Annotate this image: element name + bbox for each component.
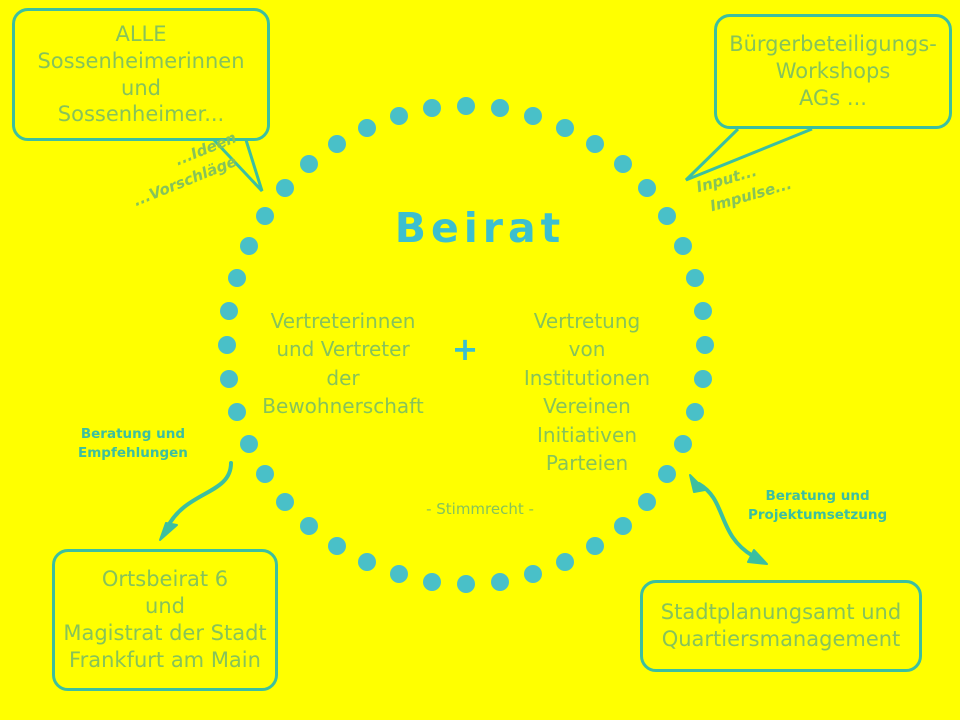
circle-dot	[328, 135, 346, 153]
circle-dot	[390, 107, 408, 125]
label-beratung-projektumsetzung: Beratung und Projektumsetzung	[748, 487, 887, 525]
bubble-citizens-line: Sossenheimerinnen	[37, 48, 244, 75]
bubble-citizens-line: ALLE	[115, 21, 166, 48]
circle-dot	[300, 517, 318, 535]
label-beratung-empfehlungen-line: Empfehlungen	[78, 444, 188, 463]
circle-dot	[276, 179, 294, 197]
circle-dot	[300, 155, 318, 173]
bubble-citizens-line: Sossenheimer...	[58, 101, 224, 128]
plus-icon: +	[445, 333, 485, 365]
center-right-line: Vereinen	[502, 392, 672, 420]
circle-dot	[586, 537, 604, 555]
circle-dot	[524, 107, 542, 125]
bubble-ortsbeirat-line: und	[145, 593, 185, 620]
circle-dot	[218, 336, 236, 354]
circle-dot	[228, 269, 246, 287]
center-left-line: der	[258, 364, 428, 392]
circle-dot	[423, 99, 441, 117]
center-right-line: Vertretung	[502, 307, 672, 335]
bubble-ortsbeirat-line: Magistrat der Stadt	[63, 620, 266, 647]
diagram-canvas: Beirat Vertreterinnen und Vertreter der …	[0, 0, 960, 720]
arrowhead-up-projektumsetzung	[690, 475, 705, 492]
circle-dot	[491, 573, 509, 591]
arrowhead-beratung-empfehlungen	[160, 523, 177, 540]
center-right-line: Parteien	[502, 449, 672, 477]
bubble-workshops-line: Bürgerbeteiligungs-	[729, 31, 937, 58]
circle-dot	[358, 119, 376, 137]
center-left-line: und Vertreter	[258, 335, 428, 363]
bubble-citizens[interactable]: ALLE Sossenheimerinnen und Sossenheimer.…	[12, 8, 270, 141]
circle-dot	[358, 553, 376, 571]
circle-dot	[390, 565, 408, 583]
circle-dot	[240, 435, 258, 453]
label-beratung-projektumsetzung-line: Projektumsetzung	[748, 506, 887, 525]
circle-dot	[228, 403, 246, 421]
label-beratung-empfehlungen-line: Beratung und	[78, 425, 188, 444]
arrow-beratung-projektumsetzung	[699, 484, 753, 556]
circle-dot	[556, 119, 574, 137]
bubble-stadtplanung[interactable]: Stadtplanungsamt und Quartiersmanagement	[640, 580, 922, 672]
circle-dot	[457, 97, 475, 115]
circle-dot	[491, 99, 509, 117]
center-left-line: Vertreterinnen	[258, 307, 428, 335]
circle-dot	[638, 179, 656, 197]
circle-dot	[457, 575, 475, 593]
circle-dot	[614, 517, 632, 535]
circle-dot	[220, 370, 238, 388]
circle-dot	[556, 553, 574, 571]
arrowhead-down-projektumsetzung	[748, 550, 767, 564]
circle-dot	[586, 135, 604, 153]
center-left-line: Bewohnerschaft	[258, 392, 428, 420]
center-columns: Vertreterinnen und Vertreter der Bewohne…	[258, 307, 672, 477]
center-title: Beirat	[0, 204, 960, 252]
circle-dot	[686, 269, 704, 287]
bubble-workshops[interactable]: Bürgerbeteiligungs- Workshops AGs ...	[714, 14, 952, 129]
circle-dot	[696, 336, 714, 354]
circle-dot	[524, 565, 542, 583]
center-column-left: Vertreterinnen und Vertreter der Bewohne…	[258, 307, 428, 421]
bubble-ortsbeirat[interactable]: Ortsbeirat 6 und Magistrat der Stadt Fra…	[52, 549, 278, 691]
circle-dot	[694, 370, 712, 388]
circle-dot	[694, 302, 712, 320]
center-right-line: von	[502, 335, 672, 363]
bubble-ortsbeirat-line: Frankfurt am Main	[69, 647, 261, 674]
bubble-stadtplanung-line: Stadtplanungsamt und	[661, 599, 901, 626]
label-beratung-empfehlungen: Beratung und Empfehlungen	[78, 425, 188, 463]
circle-dot	[686, 403, 704, 421]
bubble-citizens-line: und	[121, 75, 161, 102]
center-right-line: Institutionen	[502, 364, 672, 392]
center-column-right: Vertretung von Institutionen Vereinen In…	[502, 307, 672, 477]
bubble-ortsbeirat-line: Ortsbeirat 6	[102, 566, 228, 593]
arrow-beratung-empfehlungen	[167, 463, 231, 528]
center-right-line: Initiativen	[502, 421, 672, 449]
label-beratung-projektumsetzung-line: Beratung und	[748, 487, 887, 506]
circle-dot	[614, 155, 632, 173]
circle-dot	[423, 573, 441, 591]
bubble-workshops-line: AGs ...	[799, 85, 867, 112]
bubble-stadtplanung-line: Quartiersmanagement	[662, 626, 901, 653]
bubble-workshops-line: Workshops	[776, 58, 891, 85]
circle-dot	[328, 537, 346, 555]
circle-dot	[220, 302, 238, 320]
circle-dot	[674, 435, 692, 453]
